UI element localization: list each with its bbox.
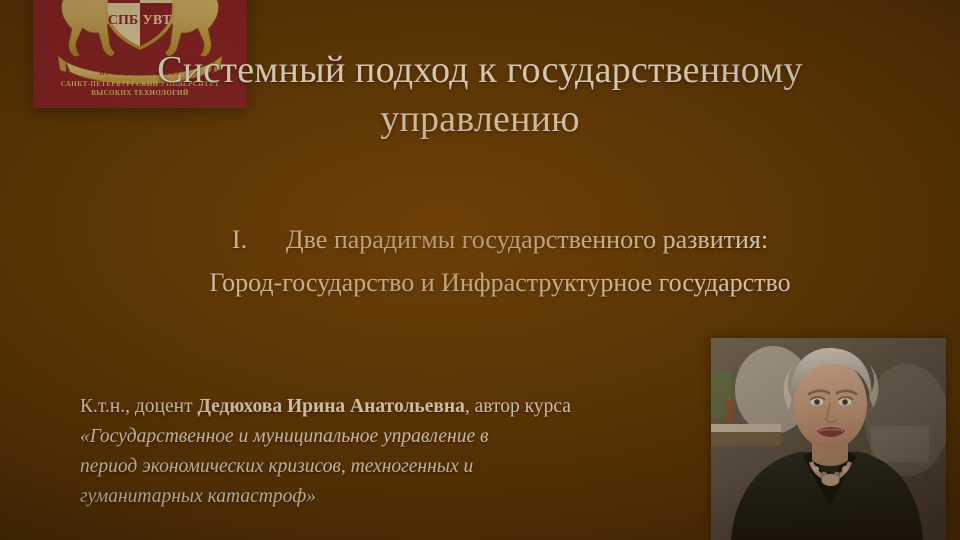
slide-title-line2: управлению bbox=[60, 95, 900, 144]
credit-author-line: К.т.н., доцент Дедюхова Ирина Анатольевн… bbox=[80, 392, 705, 422]
slide-title: Системный подход к государственному упра… bbox=[60, 46, 900, 144]
presenter-video-frame bbox=[711, 338, 946, 540]
presentation-slide: АНО ВПО СПБ УВТ ОТ ЗНАНИЙ К УСПЕХУ САНКТ… bbox=[0, 0, 960, 540]
agenda-number: I. bbox=[232, 218, 286, 261]
svg-text:СПБ: СПБ bbox=[108, 13, 138, 28]
svg-text:УВТ: УВТ bbox=[143, 13, 172, 28]
course-title-line2: период экономических кризисов, техногенн… bbox=[80, 452, 705, 482]
course-title-line3: гуманитарных катастроф» bbox=[80, 482, 705, 512]
agenda-line1-text: Две парадигмы государственного развития: bbox=[286, 225, 768, 254]
credit-author-name: Дедюхова Ирина Анатольевна bbox=[197, 396, 464, 417]
course-title-line1: «Государственное и муниципальное управле… bbox=[80, 422, 705, 452]
credit-suffix: , автор курса bbox=[465, 396, 571, 417]
presenter-video[interactable] bbox=[711, 338, 946, 540]
agenda-section: I.Две парадигмы государственного развити… bbox=[120, 218, 880, 304]
slide-title-line1: Системный подход к государственному bbox=[60, 46, 900, 95]
agenda-line1: I.Две парадигмы государственного развити… bbox=[120, 218, 880, 261]
author-credit: К.т.н., доцент Дедюхова Ирина Анатольевн… bbox=[80, 392, 705, 512]
agenda-line2: Город-государство и Инфраструктурное гос… bbox=[120, 261, 880, 304]
credit-prefix: К.т.н., доцент bbox=[80, 396, 197, 417]
